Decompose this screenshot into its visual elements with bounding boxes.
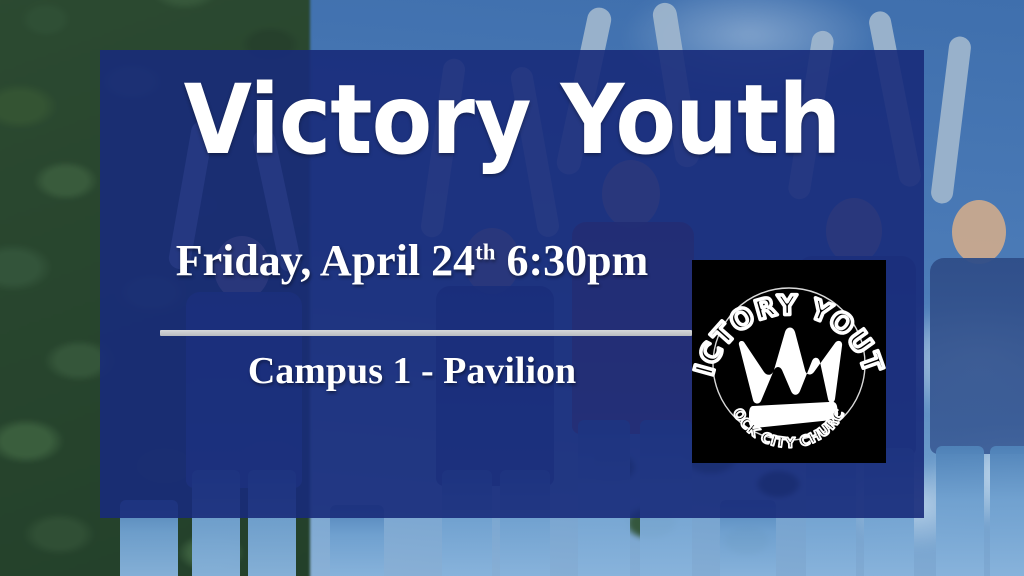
event-date-prefix: Friday, April 24 (176, 236, 475, 285)
date-ordinal-suffix: th (475, 239, 495, 264)
event-time: 6:30pm (496, 236, 649, 285)
page-title: Victory Youth (133, 72, 891, 168)
event-datetime: Friday, April 24th 6:30pm (132, 238, 692, 284)
event-venue: Campus 1 - Pavilion (132, 352, 692, 392)
crown-icon (739, 328, 842, 429)
event-slide: Victory Youth Friday, April 24th 6:30pm … (0, 0, 1024, 576)
divider-rule (160, 330, 692, 336)
victory-youth-logo: VICTORY YOUTH ROCK CITY CHURCH (692, 260, 886, 463)
logo-artwork: VICTORY YOUTH ROCK CITY CHURCH (692, 260, 886, 463)
